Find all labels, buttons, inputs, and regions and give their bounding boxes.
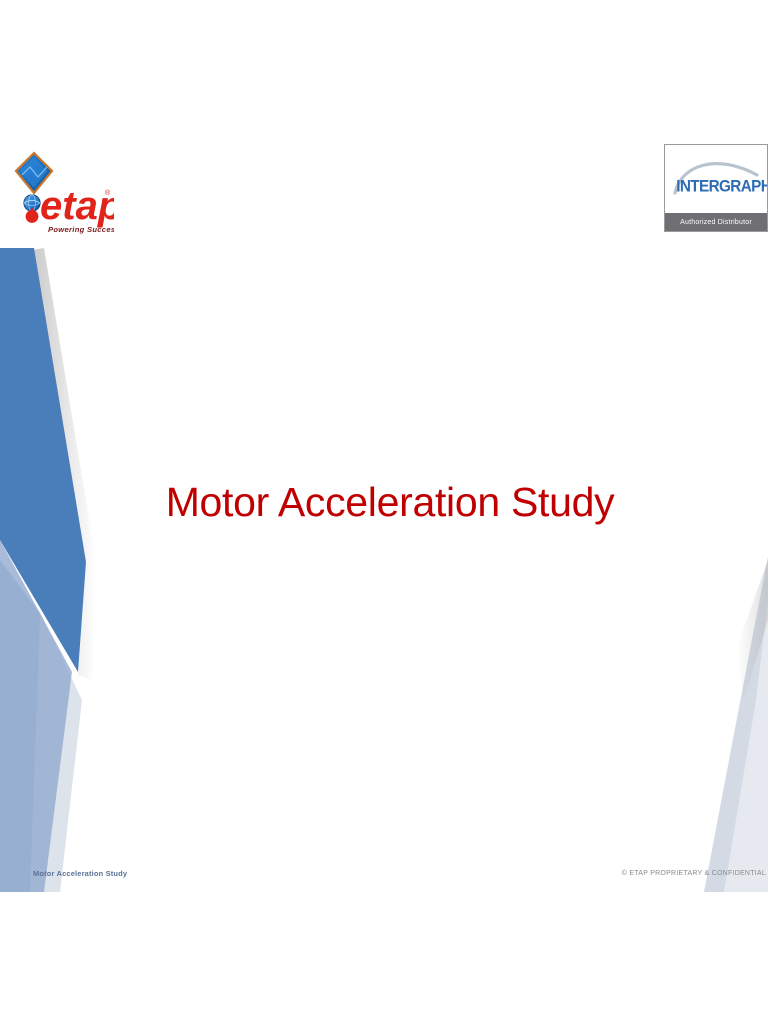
- decor-shape-pale-right-2: [724, 600, 768, 892]
- intergraph-wordmark: INTERGRAPH: [676, 177, 767, 196]
- intergraph-authorized-distributor-bar: Authorized Distributor: [665, 213, 767, 231]
- decor-shadow-left: [32, 248, 96, 680]
- etap-logo: etap ® Powering Success: [10, 145, 114, 241]
- decor-shape-light-left: [0, 540, 72, 892]
- decor-shadow-right: [736, 560, 768, 700]
- decor-shape-dark-left: [0, 248, 86, 672]
- decor-shape-sliver-left: [0, 560, 40, 892]
- decor-shape-pale-right: [704, 556, 768, 892]
- etap-wordmark: etap: [40, 184, 114, 228]
- intergraph-logo-graphic: INTERGRAPH: [665, 145, 767, 207]
- slide-title-block: Motor Acceleration Study: [150, 480, 630, 525]
- etap-logo-graphic: etap ® Powering Success: [10, 145, 114, 241]
- presentation-slide: etap ® Powering Success INTERGRAPH Autho…: [0, 0, 768, 892]
- intergraph-subtitle: Authorized Distributor: [680, 219, 752, 226]
- decorative-background-shapes: [0, 0, 768, 892]
- etap-tagline: Powering Success: [48, 225, 114, 234]
- intergraph-logo: INTERGRAPH Authorized Distributor: [664, 144, 768, 232]
- etap-registered-mark: ®: [105, 189, 111, 197]
- intergraph-mark: INTERGRAPH: [665, 145, 767, 207]
- decor-shape-pale-left: [0, 560, 82, 892]
- slide-title: Motor Acceleration Study: [150, 480, 630, 525]
- footer-left-text: Motor Acceleration Study: [33, 869, 127, 878]
- footer-right-text: © ETAP PROPRIETARY & CONFIDENTIAL: [622, 870, 766, 877]
- page-whitespace: [0, 892, 768, 1024]
